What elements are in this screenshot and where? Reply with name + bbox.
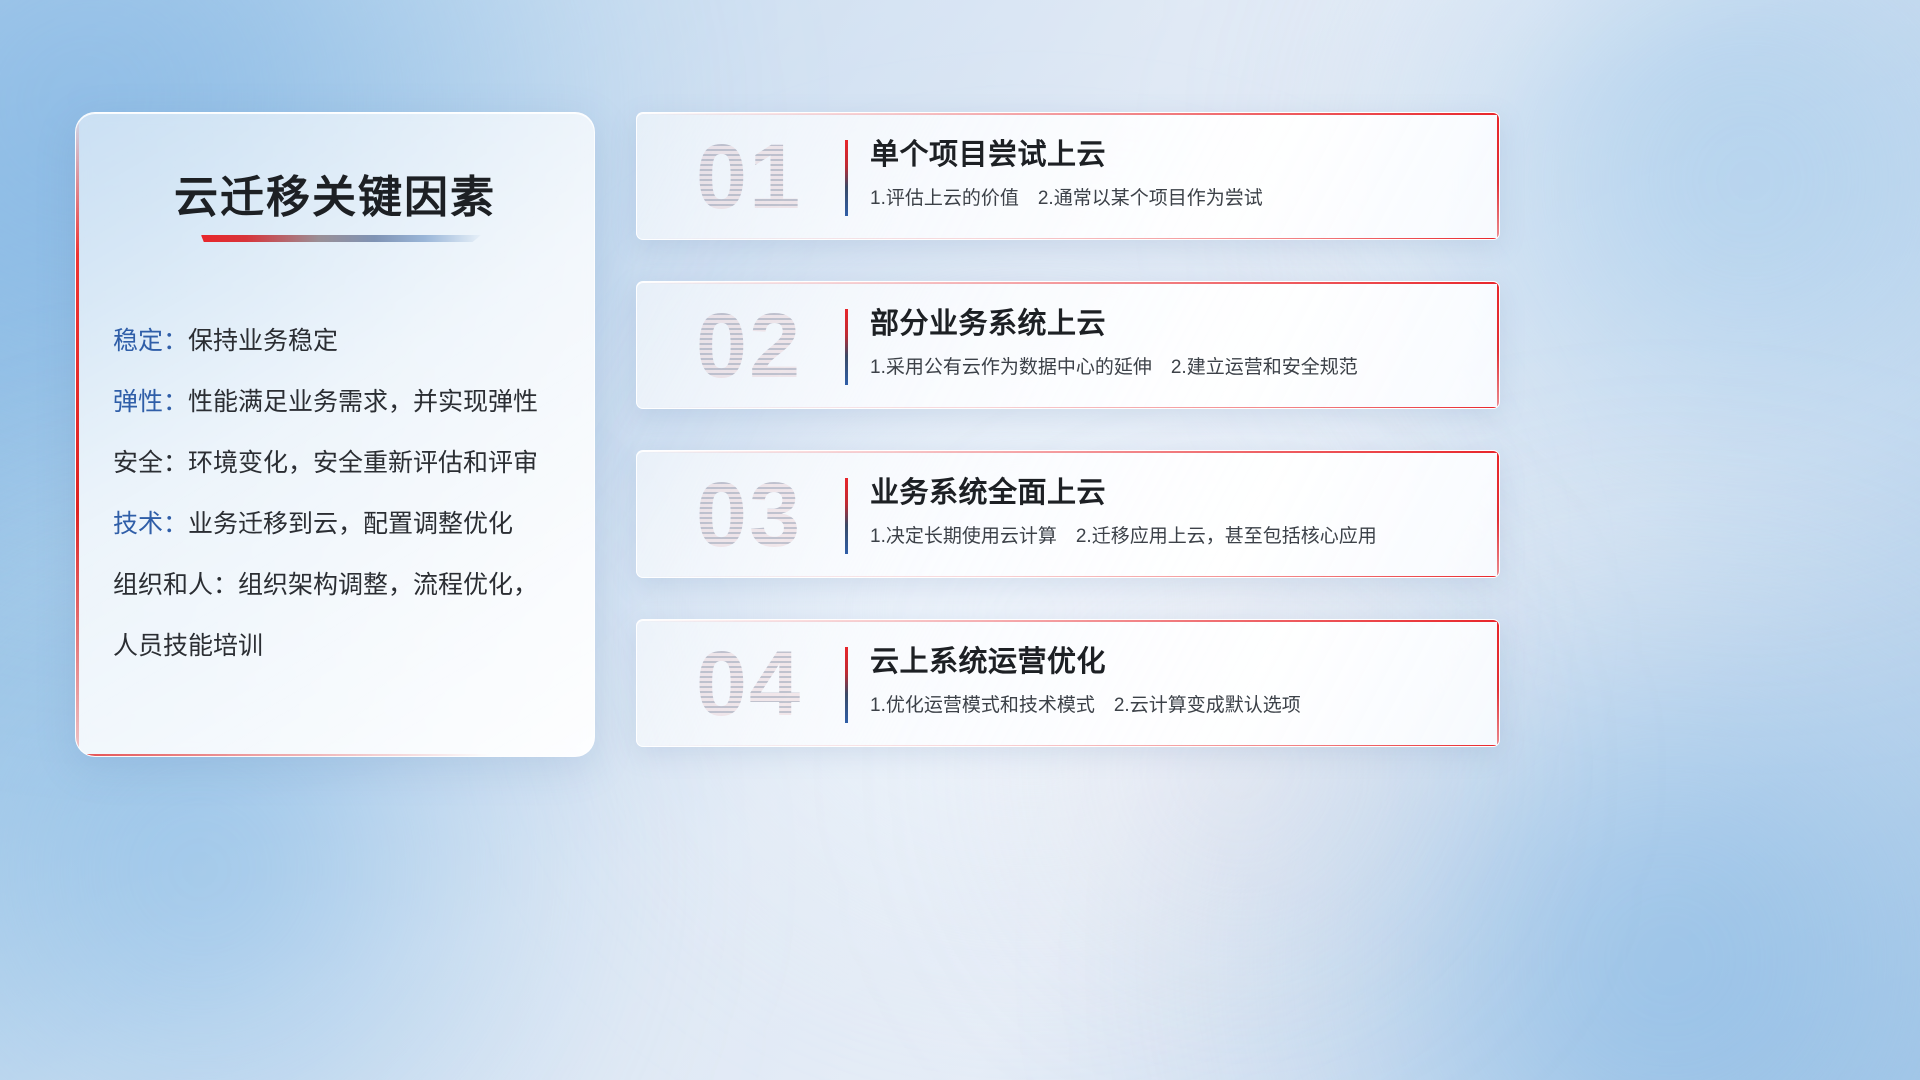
card-top-accent-line	[637, 620, 1499, 622]
key-factors-list: 稳定：保持业务稳定弹性：性能满足业务需求，并实现弹性安全：环境变化，安全重新评估…	[113, 311, 564, 677]
stage-card[interactable]: 0404云上系统运营优化1.优化运营模式和技术模式 2.云计算变成默认选项	[636, 619, 1500, 747]
slide-stage: 云迁移关键因素 稳定：保持业务稳定弹性：性能满足业务需求，并实现弹性安全：环境变…	[0, 0, 1920, 1080]
card-bottom-accent-line	[637, 238, 1499, 240]
stage-card[interactable]: 0101单个项目尝试上云1.评估上云的价值 2.通常以某个项目作为尝试	[636, 112, 1500, 240]
card-bottom-accent-line	[637, 407, 1499, 409]
key-factor-value: 保持业务稳定	[188, 327, 338, 355]
card-bottom-accent-line	[637, 745, 1499, 747]
stage-number: 04	[659, 630, 839, 738]
key-factor-row: 安全：环境变化，安全重新评估和评审	[113, 433, 564, 494]
key-factor-row: 组织和人：组织架构调整，流程优化，	[113, 555, 564, 616]
key-factor-label: 弹性：	[113, 388, 188, 416]
stage-title: 单个项目尝试上云	[870, 135, 1471, 175]
stage-number: 02	[659, 292, 839, 400]
key-factor-value: 环境变化，安全重新评估和评审	[188, 449, 538, 477]
card-divider-bar	[845, 647, 848, 723]
stage-title: 云上系统运营优化	[870, 642, 1471, 682]
card-body: 业务系统全面上云1.决定长期使用云计算 2.迁移应用上云，甚至包括核心应用	[870, 473, 1471, 550]
card-bottom-accent-line	[637, 576, 1499, 578]
key-factor-row: 弹性：性能满足业务需求，并实现弹性	[113, 372, 564, 433]
stage-card[interactable]: 0303业务系统全面上云1.决定长期使用云计算 2.迁移应用上云，甚至包括核心应…	[636, 450, 1500, 578]
stage-description: 1.决定长期使用云计算 2.迁移应用上云，甚至包括核心应用	[870, 524, 1471, 550]
key-factor-label: 技术：	[113, 510, 188, 538]
card-body: 云上系统运营优化1.优化运营模式和技术模式 2.云计算变成默认选项	[870, 642, 1471, 719]
key-factor-value: 性能满足业务需求，并实现弹性	[188, 388, 538, 416]
key-factor-label: 安全：	[113, 449, 188, 477]
stage-number: 01	[659, 123, 839, 231]
key-factor-row: 稳定：保持业务稳定	[113, 311, 564, 372]
stage-title: 业务系统全面上云	[870, 473, 1471, 513]
stage-card[interactable]: 0202部分业务系统上云1.采用公有云作为数据中心的延伸 2.建立运营和安全规范	[636, 281, 1500, 409]
key-factor-label: 组织和人：	[113, 571, 238, 599]
key-factor-row: 人员技能培训	[113, 616, 564, 677]
card-top-accent-line	[637, 282, 1499, 284]
card-divider-bar	[845, 309, 848, 385]
stage-description: 1.评估上云的价值 2.通常以某个项目作为尝试	[870, 186, 1471, 212]
stage-number: 03	[659, 461, 839, 569]
key-factors-panel: 云迁移关键因素 稳定：保持业务稳定弹性：性能满足业务需求，并实现弹性安全：环境变…	[75, 112, 595, 757]
key-factor-value: 人员技能培训	[113, 632, 263, 660]
card-divider-bar	[845, 478, 848, 554]
key-factor-row: 技术：业务迁移到云，配置调整优化	[113, 494, 564, 555]
stage-title: 部分业务系统上云	[870, 304, 1471, 344]
stage-card-list: 0101单个项目尝试上云1.评估上云的价值 2.通常以某个项目作为尝试0202部…	[636, 112, 1500, 788]
title-underline-rule	[201, 235, 481, 242]
card-top-accent-line	[637, 113, 1499, 115]
card-top-accent-line	[637, 451, 1499, 453]
card-body: 部分业务系统上云1.采用公有云作为数据中心的延伸 2.建立运营和安全规范	[870, 304, 1471, 381]
card-divider-bar	[845, 140, 848, 216]
key-factor-value: 组织架构调整，流程优化，	[238, 571, 538, 599]
stage-description: 1.优化运营模式和技术模式 2.云计算变成默认选项	[870, 693, 1471, 719]
card-body: 单个项目尝试上云1.评估上云的价值 2.通常以某个项目作为尝试	[870, 135, 1471, 212]
key-factor-label: 稳定：	[113, 327, 188, 355]
panel-title: 云迁移关键因素	[76, 161, 594, 225]
stage-description: 1.采用公有云作为数据中心的延伸 2.建立运营和安全规范	[870, 355, 1471, 381]
key-factor-value: 业务迁移到云，配置调整优化	[188, 510, 513, 538]
